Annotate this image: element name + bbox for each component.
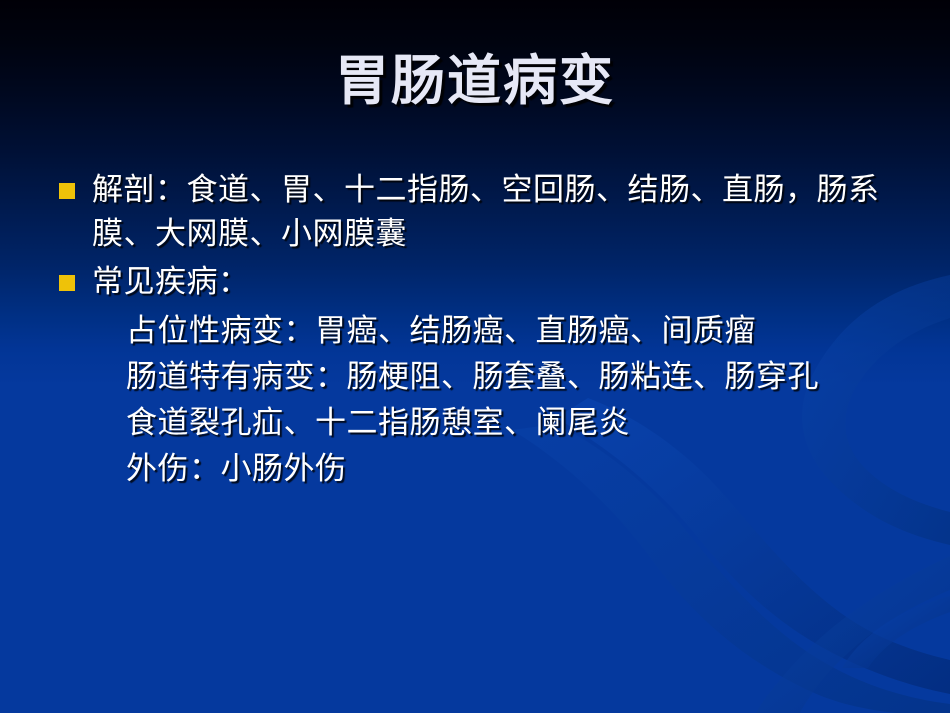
slide-title-text: 胃肠道病变 xyxy=(335,52,615,109)
sub-item-bowel-specific-lesions: 肠道特有病变：肠梗阻、肠套叠、肠粘连、肠穿孔 xyxy=(48,354,932,400)
square-bullet-icon xyxy=(59,183,75,199)
sub-item-mass-lesions-text: 占位性病变：胃癌、结肠癌、直肠癌、间质瘤 xyxy=(92,308,932,354)
bullet-item-anatomy: 解剖：食道、胃、十二指肠、空回肠、结肠、直肠，肠系膜、大网膜、小网膜囊 xyxy=(48,168,932,256)
sub-item-hernia-diverticulum-appendicitis: 食道裂孔疝、十二指肠憩室、阑尾炎 xyxy=(48,400,932,446)
square-bullet-icon xyxy=(59,275,75,291)
slide-title: 胃肠道病变 xyxy=(0,52,950,109)
presentation-slide: 胃肠道病变 解剖：食道、胃、十二指肠、空回肠、结肠、直肠，肠系膜、大网膜、小网膜… xyxy=(0,0,950,713)
sub-item-trauma: 外伤：小肠外伤 xyxy=(48,446,932,492)
bullet-item-anatomy-text: 解剖：食道、胃、十二指肠、空回肠、结肠、直肠，肠系膜、大网膜、小网膜囊 xyxy=(92,168,932,256)
slide-body: 解剖：食道、胃、十二指肠、空回肠、结肠、直肠，肠系膜、大网膜、小网膜囊 常见疾病… xyxy=(48,168,932,492)
sub-item-trauma-text: 外伤：小肠外伤 xyxy=(92,446,932,492)
sub-item-hernia-diverticulum-appendicitis-text: 食道裂孔疝、十二指肠憩室、阑尾炎 xyxy=(92,400,932,446)
bullet-item-common-diseases: 常见疾病： xyxy=(48,260,932,304)
sub-item-mass-lesions: 占位性病变：胃癌、结肠癌、直肠癌、间质瘤 xyxy=(48,308,932,354)
sub-item-bowel-specific-lesions-text: 肠道特有病变：肠梗阻、肠套叠、肠粘连、肠穿孔 xyxy=(92,354,932,400)
bullet-item-common-diseases-text: 常见疾病： xyxy=(92,260,932,304)
